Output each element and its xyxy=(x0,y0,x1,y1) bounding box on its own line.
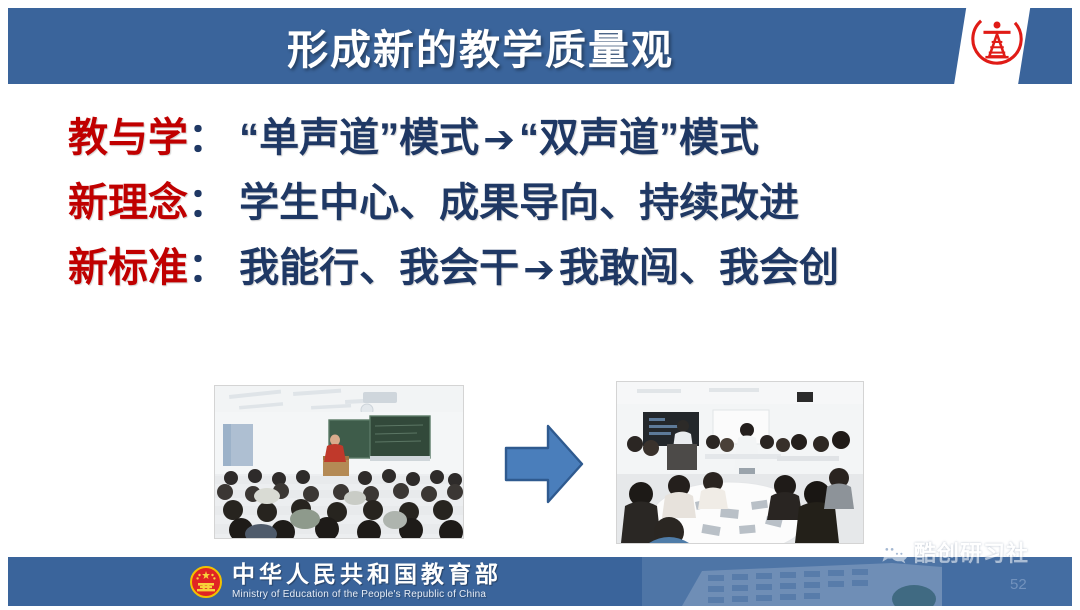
inline-arrow-icon xyxy=(799,184,807,226)
slide-canvas: 形成新的教学质量观 教与学： “单声道”模式➔“双声道”模式 新理念： 学生中心… xyxy=(0,0,1080,610)
line-colon: ： xyxy=(188,116,228,160)
line-value-before: 我能行、我会干 xyxy=(239,246,519,290)
ministry-brand: 中华人民共和国教育部 Ministry of Education of the … xyxy=(189,559,502,604)
page-number: 52 xyxy=(1010,576,1027,593)
inline-arrow-icon: ➔ xyxy=(479,119,519,161)
line-label: 新理念 xyxy=(68,181,188,225)
tower-emblem-icon xyxy=(968,10,1026,68)
collaborative-classroom-photo xyxy=(616,381,864,544)
page-title: 形成新的教学质量观 xyxy=(8,8,953,84)
slide-footer: 中华人民共和国教育部 Ministry of Education of the … xyxy=(8,557,1072,606)
content-line: 新理念： 学生中心、成果导向、持续改进 xyxy=(68,183,1028,224)
line-value-after: “双声道”模式 xyxy=(519,116,759,160)
line-label: 新标准 xyxy=(68,246,188,290)
line-colon: ： xyxy=(188,246,228,290)
china-national-emblem-icon xyxy=(189,565,223,599)
content-line: 教与学： “单声道”模式➔“双声道”模式 xyxy=(68,118,1028,159)
line-value-before: “单声道”模式 xyxy=(239,116,479,160)
line-value-before: 学生中心、成果导向、持续改进 xyxy=(239,181,799,225)
campus-building-photo xyxy=(642,557,1072,606)
line-label: 教与学 xyxy=(68,116,188,160)
traditional-lecture-hall-photo xyxy=(214,385,464,539)
ministry-name-cn: 中华人民共和国教育部 xyxy=(232,563,502,586)
content-line: 新标准： 我能行、我会干➔我敢闯、我会创 xyxy=(68,248,1028,289)
line-colon: ： xyxy=(188,181,228,225)
line-value-after: 我敢闯、我会创 xyxy=(559,246,839,290)
slide-header: 形成新的教学质量观 xyxy=(8,8,1072,84)
transition-arrow xyxy=(502,420,586,508)
inline-arrow-icon: ➔ xyxy=(519,249,559,291)
ministry-name-en: Ministry of Education of the People's Re… xyxy=(232,590,502,600)
content-lines: 教与学： “单声道”模式➔“双声道”模式 新理念： 学生中心、成果导向、持续改进… xyxy=(68,118,1028,313)
